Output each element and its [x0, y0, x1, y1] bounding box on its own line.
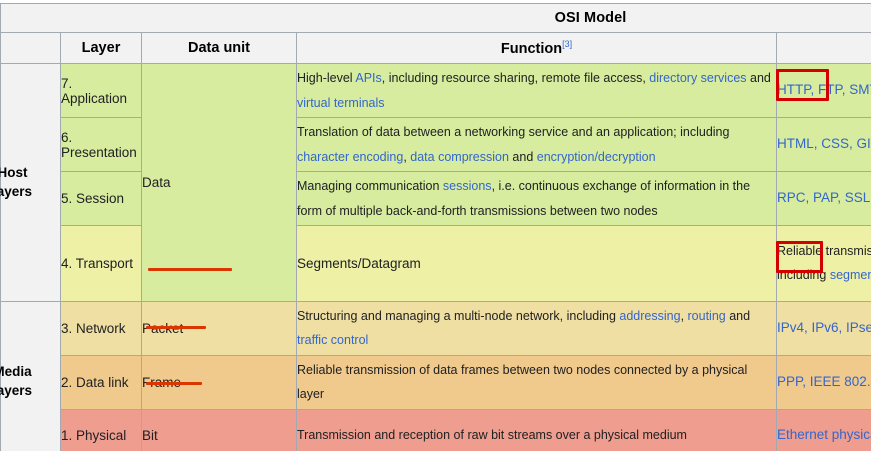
examples-network: IPv4, IPv6, IPsec, ICMP [777, 301, 871, 355]
table-title-row: OSI Model [1, 4, 871, 33]
group-host-layers: Host layers [1, 64, 61, 302]
function-reference-link[interactable]: [3] [562, 39, 572, 49]
group-media-line2: layers [0, 383, 32, 398]
function-presentation: Translation of data between a networking… [297, 118, 777, 172]
table-row: Media layers 3. Network Packet Structuri… [1, 301, 871, 355]
bottom-white-strip [0, 451, 871, 457]
layer-data-link[interactable]: 2. Data link [61, 355, 142, 409]
column-header-function-label: Function [501, 41, 562, 57]
function-transport: Reliable transmission of data segments b… [777, 226, 871, 302]
layer-transport[interactable]: 4. Transport [61, 226, 142, 302]
data-unit-segments[interactable]: Segments/Datagram [297, 226, 777, 302]
layer-network[interactable]: 3. Network [61, 301, 142, 355]
page-title: OSI Model [1, 4, 871, 33]
function-physical: Transmission and reception of raw bit st… [297, 409, 777, 457]
column-header-examples: Examples [777, 33, 871, 64]
osi-model-table: OSI Model Layer Data unit Function[3] Ex… [0, 3, 871, 457]
column-header-layer: Layer [61, 33, 142, 64]
function-network: Structuring and managing a multi-node ne… [297, 301, 777, 355]
data-unit-packet[interactable]: Packet [142, 301, 297, 355]
column-header-function: Function[3] [297, 33, 777, 64]
examples-physical: Ethernet physical layer, USB, ISDN, DSL [777, 409, 871, 457]
group-media-layers: Media layers [1, 301, 61, 457]
examples-data-link: PPP, IEEE 802.2, L2TP, LLDP [777, 355, 871, 409]
osi-model-screenshot: OSI Model Layer Data unit Function[3] Ex… [0, 0, 871, 457]
table-row: 2. Data link Frame Reliable transmission… [1, 355, 871, 409]
column-header-data-unit: Data unit [142, 33, 297, 64]
table-row: Host layers 7. Application Data High-lev… [1, 64, 871, 118]
function-data-link: Reliable transmission of data frames bet… [297, 355, 777, 409]
layer-presentation[interactable]: 6. Presentation [61, 118, 142, 172]
group-host-line2: layers [0, 184, 32, 199]
examples-session: RPC, PAP, SSL [777, 172, 871, 226]
table-row: 5. Session Managing communication sessio… [1, 172, 871, 226]
layer-physical[interactable]: 1. Physical [61, 409, 142, 457]
column-header-group [1, 33, 61, 64]
layer-application[interactable]: 7. Application [61, 64, 142, 118]
examples-presentation: HTML, CSS, GIF [777, 118, 871, 172]
data-unit-data[interactable]: Data [142, 64, 297, 302]
table-row: 4. Transport Segments/Datagram Reliable … [1, 226, 871, 302]
data-unit-bit[interactable]: Bit [142, 409, 297, 457]
examples-application: HTTP, FTP, SMTP, DNS, TELNET [777, 64, 871, 118]
table-row: 1. Physical Bit Transmission and recepti… [1, 409, 871, 457]
function-application: High-level APIs, including resource shar… [297, 64, 777, 118]
data-unit-frame[interactable]: Frame [142, 355, 297, 409]
group-media-line1: Media [0, 364, 32, 379]
table-header-row: Layer Data unit Function[3] Examples [1, 33, 871, 64]
function-session: Managing communication sessions, i.e. co… [297, 172, 777, 226]
group-host-line1: Host [0, 165, 28, 180]
table-row: 6. Presentation Translation of data betw… [1, 118, 871, 172]
layer-session[interactable]: 5. Session [61, 172, 142, 226]
